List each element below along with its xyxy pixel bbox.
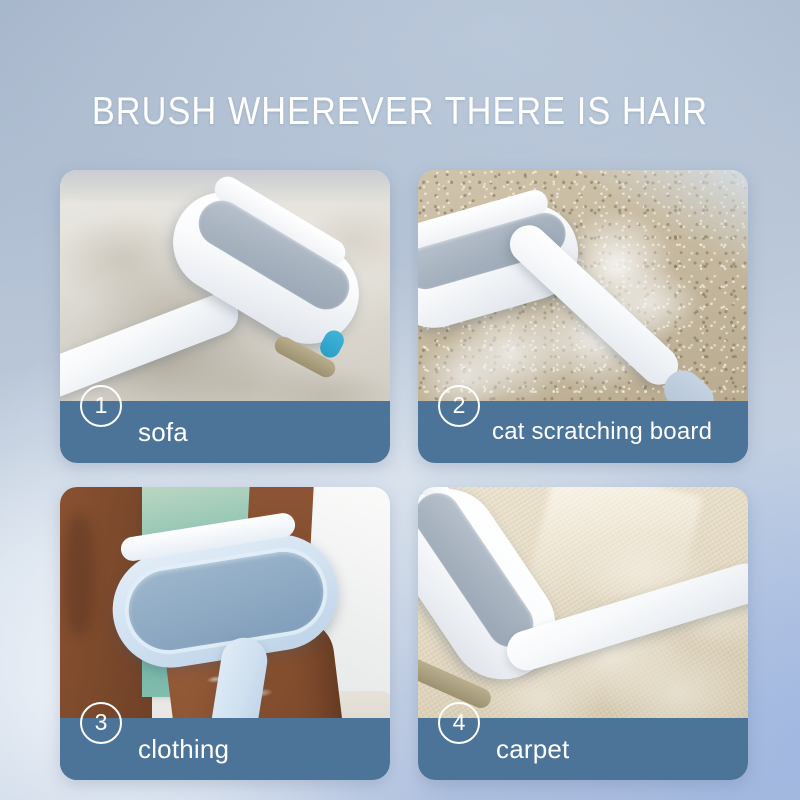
feature-card-carpet[interactable]: carpet 4 — [418, 487, 748, 780]
caption-label-carpet: carpet — [496, 736, 569, 762]
step-badge-3: 3 — [80, 702, 122, 744]
step-number-3: 3 — [95, 711, 108, 734]
feature-card-clothing[interactable]: clothing 3 — [60, 487, 390, 780]
step-badge-2: 2 — [438, 385, 480, 427]
step-number-1: 1 — [95, 394, 108, 417]
caption-label-sofa: sofa — [138, 419, 188, 445]
feature-card-sofa[interactable]: sofa 1 — [60, 170, 390, 463]
feature-card-grid: sofa 1 — [60, 170, 748, 780]
feature-card-cat-scratching-board[interactable]: cat scratching board 2 — [418, 170, 748, 463]
step-number-2: 2 — [453, 394, 466, 417]
step-badge-1: 1 — [80, 385, 122, 427]
page-title: BRUSH WHEREVER THERE IS HAIR — [48, 92, 752, 131]
product-feature-poster: BRUSH WHEREVER THERE IS HAIR — [0, 0, 800, 800]
caption-label-cat-scratching-board: cat scratching board — [492, 420, 712, 444]
step-badge-4: 4 — [438, 702, 480, 744]
caption-label-clothing: clothing — [138, 736, 229, 762]
step-number-4: 4 — [453, 711, 466, 734]
